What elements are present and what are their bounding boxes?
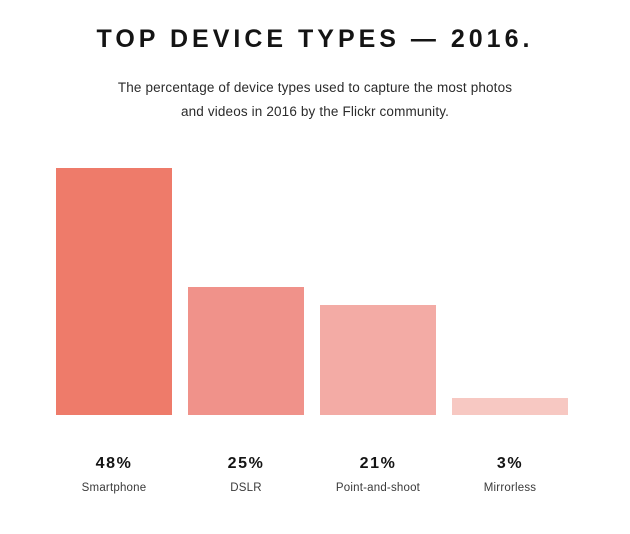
label-group-point-and-shoot: 21% Point-and-shoot [320,455,436,495]
bar-slot-point-and-shoot [320,140,436,415]
bar-point-and-shoot [320,305,436,415]
bar-slot-dslr [188,140,304,415]
value-label-point-and-shoot: 21% [320,455,436,473]
chart-header: TOP DEVICE TYPES — 2016. The percentage … [0,0,630,123]
category-label-mirrorless: Mirrorless [452,482,568,496]
category-label-dslr: DSLR [188,482,304,496]
value-label-dslr: 25% [188,455,304,473]
bar-series [56,140,568,415]
bar-smartphone [56,168,172,415]
bar-mirrorless [452,398,568,415]
bar-slot-smartphone [56,140,172,415]
value-label-smartphone: 48% [56,455,172,473]
label-group-smartphone: 48% Smartphone [56,455,172,495]
chart-category-labels: 48% Smartphone 25% DSLR 21% Point-and-sh… [56,455,568,495]
value-label-mirrorless: 3% [452,455,568,473]
category-label-smartphone: Smartphone [56,482,172,496]
infographic-chart: TOP DEVICE TYPES — 2016. The percentage … [0,0,630,534]
bar-dslr [188,287,304,415]
label-group-mirrorless: 3% Mirrorless [452,455,568,495]
chart-subtitle: The percentage of device types used to c… [115,76,515,123]
label-group-dslr: 25% DSLR [188,455,304,495]
bar-slot-mirrorless [452,140,568,415]
page-title: TOP DEVICE TYPES — 2016. [0,24,630,54]
chart-plot-area [56,140,568,415]
category-label-point-and-shoot: Point-and-shoot [320,482,436,496]
